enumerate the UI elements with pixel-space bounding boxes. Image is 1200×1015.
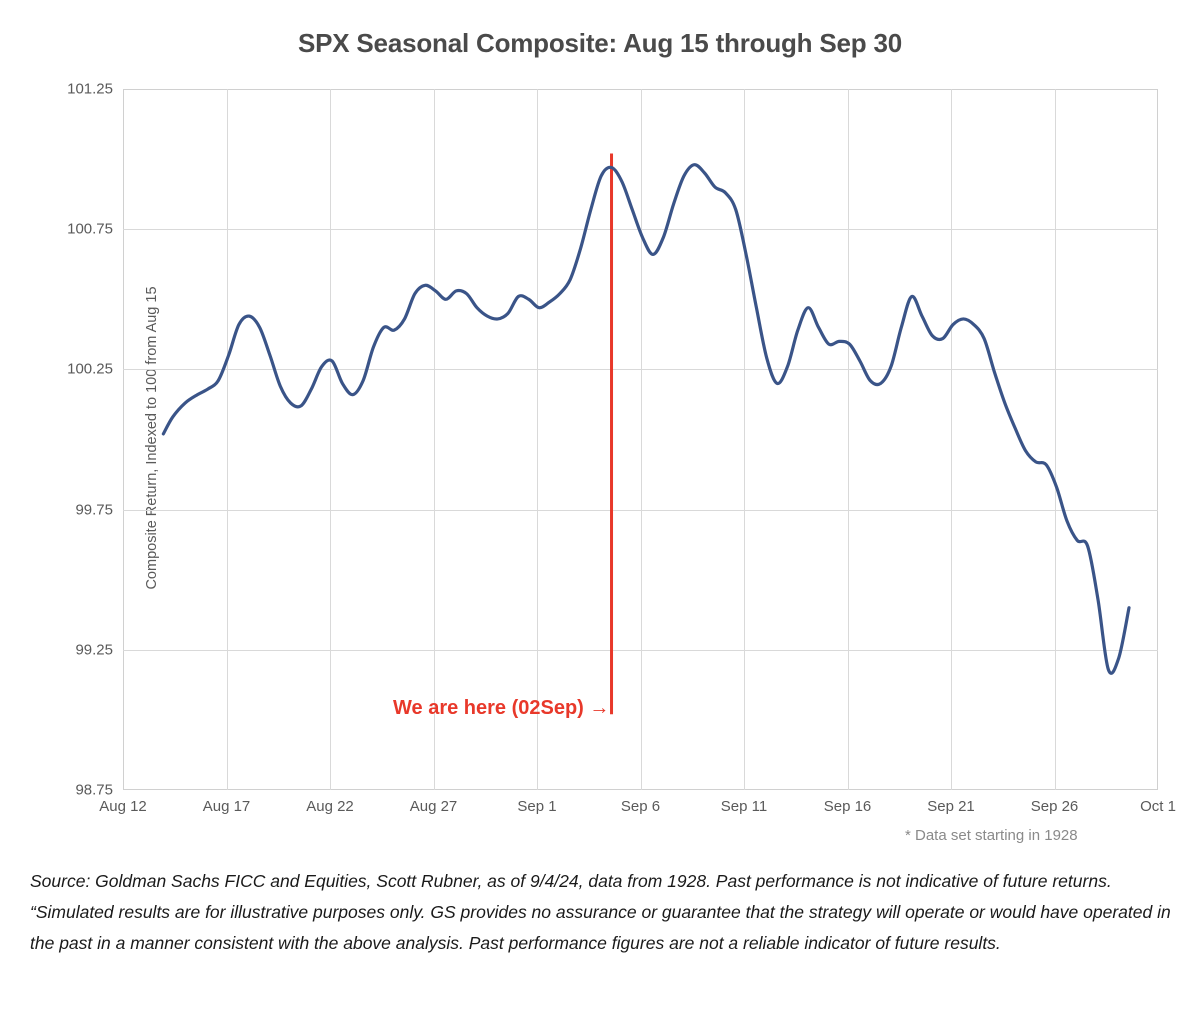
x-axis-tick-labels: Aug 12Aug 17Aug 22Aug 27Sep 1Sep 6Sep 11… — [123, 798, 1158, 822]
y-axis-tick-label: 101.25 — [43, 81, 113, 98]
x-axis-tick-label: Oct 1 — [1098, 798, 1200, 815]
chart-card: SPX Seasonal Composite: Aug 15 through S… — [0, 0, 1200, 848]
y-axis-tick-label: 100.25 — [43, 361, 113, 378]
y-axis-tick-labels: 98.7599.2599.75100.25100.75101.25 — [43, 89, 113, 790]
y-axis-tick-label: 100.75 — [43, 221, 113, 238]
x-axis-tick-label: Sep 6 — [581, 798, 701, 815]
we-are-here-annotation: We are here (02Sep) → — [393, 697, 609, 720]
source-disclaimer: Source: Goldman Sachs FICC and Equities,… — [30, 866, 1190, 959]
x-axis-tick-label: Sep 16 — [788, 798, 908, 815]
x-axis-tick-label: Aug 12 — [63, 798, 183, 815]
y-axis-tick-label: 99.75 — [43, 501, 113, 518]
y-axis-tick-label: 99.25 — [43, 641, 113, 658]
series-line — [163, 165, 1129, 674]
plot-area: We are here (02Sep) → * Data set startin… — [123, 89, 1158, 790]
chart-svg — [123, 89, 1158, 790]
data-set-note: * Data set starting in 1928 — [905, 827, 1078, 844]
x-axis-tick-label: Sep 1 — [477, 798, 597, 815]
x-axis-tick-label: Sep 26 — [995, 798, 1115, 815]
x-axis-tick-label: Aug 27 — [374, 798, 494, 815]
x-axis-tick-label: Sep 21 — [891, 798, 1011, 815]
y-axis-tick-label: 98.75 — [43, 782, 113, 799]
x-axis-tick-label: Aug 17 — [167, 798, 287, 815]
chart-title: SPX Seasonal Composite: Aug 15 through S… — [0, 28, 1200, 59]
x-axis-tick-label: Aug 22 — [270, 798, 390, 815]
x-axis-tick-label: Sep 11 — [684, 798, 804, 815]
